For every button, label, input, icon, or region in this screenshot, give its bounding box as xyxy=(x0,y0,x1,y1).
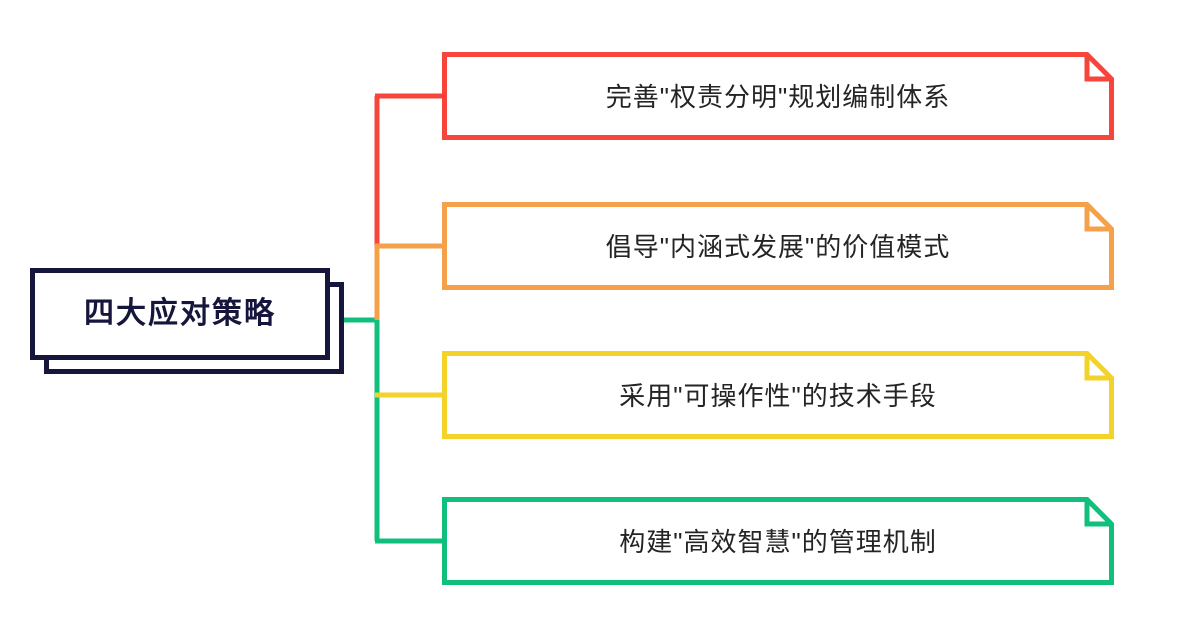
root-node-box: 四大应对策略 xyxy=(30,268,330,360)
branch-node-2[interactable]: 倡导"内涵式发展"的价值模式 xyxy=(442,202,1114,290)
branch-node-1-label: 完善"权责分明"规划编制体系 xyxy=(442,52,1114,140)
mindmap-canvas: 四大应对策略 完善"权责分明"规划编制体系 倡导"内涵式发展"的价值模式 采用"… xyxy=(0,0,1200,637)
branch-node-3-label: 采用"可操作性"的技术手段 xyxy=(442,351,1114,439)
branch-node-4-label: 构建"高效智慧"的管理机制 xyxy=(442,497,1114,585)
branch-node-1[interactable]: 完善"权责分明"规划编制体系 xyxy=(442,52,1114,140)
root-node-label: 四大应对策略 xyxy=(84,299,276,329)
branch-node-2-label: 倡导"内涵式发展"的价值模式 xyxy=(442,202,1114,290)
branch-node-3[interactable]: 采用"可操作性"的技术手段 xyxy=(442,351,1114,439)
branch-node-4[interactable]: 构建"高效智慧"的管理机制 xyxy=(442,497,1114,585)
root-node[interactable]: 四大应对策略 xyxy=(30,268,350,380)
